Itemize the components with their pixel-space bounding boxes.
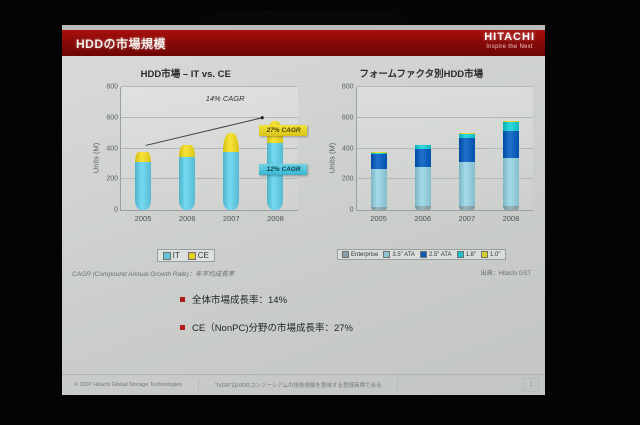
chart-title: HDD市場 – IT vs. CE <box>68 66 304 80</box>
legend-label: CE <box>198 251 209 260</box>
bar-segment <box>267 143 283 210</box>
bar-segment <box>371 169 387 207</box>
footer-trademark: "iVDR"はiVDRコンソーシアムの技術規格を意味する登録商標である <box>215 381 382 389</box>
legend-item: CE <box>188 251 209 260</box>
projected-slide-photo: HDDの市場規模 HITACHI Inspire the Next HDD市場 … <box>0 0 640 425</box>
y-axis-tick: 200 <box>342 176 354 183</box>
legend-label: 2.5" ATA <box>429 252 452 258</box>
y-axis-tick: 600 <box>342 114 354 121</box>
bar-segment <box>415 149 431 167</box>
bar-segment <box>503 122 519 131</box>
callout-it-cagr: 12% CAGR <box>259 164 307 175</box>
legend-item: 1.0" <box>481 251 500 258</box>
bar-segment <box>179 145 195 157</box>
bar-segment <box>179 157 195 211</box>
x-axis-tick: 2008 <box>503 214 520 223</box>
legend-label: 1.0" <box>490 252 500 258</box>
legend-swatch <box>420 251 427 258</box>
bar-segment <box>135 162 151 210</box>
bullet-text: CE（NonPC)分野の市場成長率：27% <box>192 320 353 334</box>
legend-swatch <box>163 252 171 260</box>
bar-column[interactable]: 2005 <box>135 87 151 210</box>
legend-box: Enterprise3.5" ATA2.5" ATA1.8"1.0" <box>337 249 506 260</box>
y-axis-tick: 400 <box>342 145 354 152</box>
cagr-trend-label: 14% CAGR <box>206 94 245 103</box>
chart-legend: ITCE <box>68 249 304 262</box>
x-axis-tick: 2007 <box>223 214 240 223</box>
y-axis-label: Units (M) <box>327 143 336 173</box>
legend-swatch <box>188 252 196 260</box>
charts-row: HDD市場 – IT vs. CE Units (M) 020040060080… <box>62 56 545 278</box>
bar-segment <box>223 133 239 152</box>
bar-segment <box>415 167 431 206</box>
legend-label: 1.8" <box>466 252 476 258</box>
bullet-square-icon <box>180 297 185 302</box>
x-axis-tick: 2007 <box>458 214 475 223</box>
bars-container: 2005200620072008 <box>121 87 298 210</box>
footer-copyright: © 2007 Hitachi Global Storage Technologi… <box>74 382 182 388</box>
footer-page-number: 1 <box>523 378 539 392</box>
bar-segment <box>459 162 475 206</box>
plot-area-wrap: Units (M) 02004006008002005200620072008 <box>334 83 534 233</box>
bar-segment <box>459 206 475 210</box>
bar-segment <box>415 206 431 210</box>
y-axis-tick: 200 <box>106 176 118 183</box>
bar-column[interactable]: 2008 <box>267 87 283 210</box>
plot-area: 0200400600800200520062007200814% CAGR27%… <box>120 87 298 211</box>
bar-column[interactable]: 2006 <box>415 87 431 210</box>
bar-segment <box>135 152 151 162</box>
slide-footer: © 2007 Hitachi Global Storage Technologi… <box>62 374 545 395</box>
bar-column[interactable]: 2007 <box>459 87 475 210</box>
chart-legend: Enterprise3.5" ATA2.5" ATA1.8"1.0" <box>304 249 540 260</box>
legend-label: IT <box>173 251 180 260</box>
footer-divider <box>397 379 398 391</box>
legend-item: IT <box>163 251 180 260</box>
bar-segment <box>503 131 519 158</box>
bar-segment <box>223 152 239 210</box>
legend-item: Enterprise <box>342 251 378 258</box>
slide-title-bar: HDDの市場規模 HITACHI Inspire the Next <box>62 30 545 56</box>
legend-box: ITCE <box>157 249 215 262</box>
bar-segment <box>503 158 519 206</box>
plot-area-wrap: Units (M) 020040060080020052006200720081… <box>98 83 298 233</box>
source-note: 出典：Hitachi GST <box>304 268 532 277</box>
page-title: HDDの市場規模 <box>76 35 166 52</box>
list-item: CE（NonPC)分野の市場成長率：27% <box>180 320 545 334</box>
bar-segment <box>503 206 519 210</box>
bar-column[interactable]: 2008 <box>503 87 519 210</box>
logo-brand: HITACHI <box>484 32 535 43</box>
x-axis-tick: 2006 <box>414 214 431 223</box>
legend-swatch <box>383 251 390 258</box>
legend-label: Enterprise <box>351 252 378 258</box>
x-axis-tick: 2008 <box>267 214 284 223</box>
legend-item: 1.8" <box>457 251 476 258</box>
chart-it-vs-ce: HDD市場 – IT vs. CE Units (M) 020040060080… <box>68 62 304 278</box>
slide: HDDの市場規模 HITACHI Inspire the Next HDD市場 … <box>62 25 545 395</box>
legend-item: 2.5" ATA <box>420 251 452 258</box>
chart-title: フォームファクタ別HDD市場 <box>304 66 540 80</box>
x-axis-tick: 2006 <box>179 214 196 223</box>
y-axis-label: Units (M) <box>92 143 101 173</box>
x-axis-tick: 2005 <box>370 214 387 223</box>
legend-swatch <box>481 251 488 258</box>
y-axis-tick: 600 <box>106 114 118 121</box>
legend-swatch <box>342 251 349 258</box>
bars-container: 2005200620072008 <box>357 87 534 210</box>
bullet-text: 全体市場成長率：14% <box>192 292 287 306</box>
bullet-square-icon <box>180 325 185 330</box>
chart-by-form-factor: フォームファクタ別HDD市場 Units (M) 020040060080020… <box>304 62 540 278</box>
logo-tagline: Inspire the Next <box>484 44 535 50</box>
list-item: 全体市場成長率：14% <box>180 292 545 306</box>
bar-segment <box>371 207 387 210</box>
legend-label: 3.5" ATA <box>392 252 415 258</box>
y-axis-tick: 0 <box>114 207 118 214</box>
y-axis-tick: 0 <box>350 207 354 214</box>
x-axis-tick: 2005 <box>135 214 152 223</box>
bar-column[interactable]: 2007 <box>223 87 239 210</box>
y-axis-tick: 800 <box>342 84 354 91</box>
bar-column[interactable]: 2005 <box>371 87 387 210</box>
legend-item: 3.5" ATA <box>383 251 415 258</box>
footer-divider <box>198 379 199 391</box>
callout-ce-cagr: 27% CAGR <box>259 125 307 136</box>
bar-segment <box>459 138 475 163</box>
plot-area: 02004006008002005200620072008 <box>356 87 534 211</box>
cagr-footnote: CAGR (Compound Annual Growth Rate)：年平均成長… <box>72 268 304 278</box>
bar-column[interactable]: 2006 <box>179 87 195 210</box>
bullet-list: 全体市場成長率：14% CE（NonPC)分野の市場成長率：27% <box>180 292 545 334</box>
bar-segment <box>371 154 387 169</box>
legend-swatch <box>457 251 464 258</box>
hitachi-logo: HITACHI Inspire the Next <box>484 32 535 50</box>
slide-body: HDD市場 – IT vs. CE Units (M) 020040060080… <box>62 56 545 395</box>
y-axis-tick: 400 <box>106 145 118 152</box>
y-axis-tick: 800 <box>106 84 118 91</box>
